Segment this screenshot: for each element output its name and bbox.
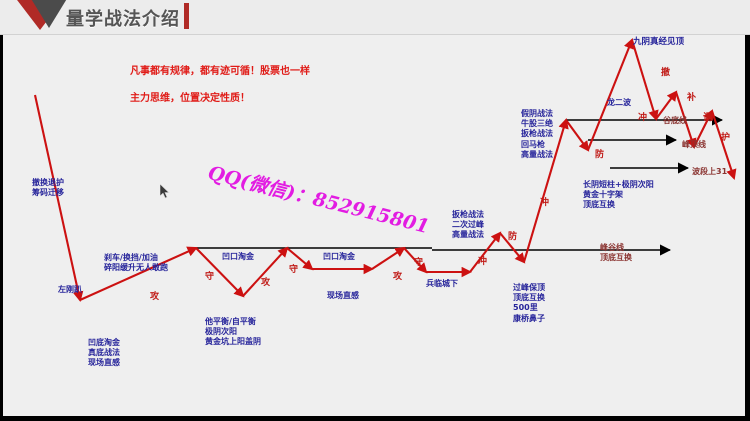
chart-annotation-a32: 护 <box>721 133 730 145</box>
chart-annotation-a27: 九阴真经见顶 <box>633 37 684 48</box>
chart-annotation-a23: 防 <box>595 150 604 162</box>
chart-annotation-a6: 凹口淘金 <box>222 252 254 262</box>
chart-annotation-a34: 波段上31 <box>692 167 727 177</box>
headline-note-2: 主力思维，位置决定性质！ <box>130 93 250 106</box>
seg-down-6 <box>566 120 588 150</box>
chart-annotation-a16: 扳枪战法二次过峰高量战法 <box>452 210 484 241</box>
headline-note-1: 凡事都有规律，都有迹可循！股票也一样 <box>130 66 310 79</box>
chart-annotation-a18: 防 <box>508 232 517 244</box>
chart-annotation-a26: 冲 <box>638 113 647 125</box>
chart-annotation-a22: 冲 <box>540 198 549 210</box>
chart-annotation-a8: 攻 <box>261 278 270 290</box>
chart-annotation-a9: 他平衡/自平衡极阴次阳黄金坑上阳盖阴 <box>205 317 261 348</box>
chart-annotation-a3: 凹底淘金真底战法现场直感 <box>88 338 120 369</box>
edge-bottom <box>0 416 750 421</box>
chart-annotation-a24: 长阴短柱+极阴次阳黄金十字架顶底互换 <box>583 180 654 211</box>
chart-annotation-a2: 左刚趴 <box>58 285 82 295</box>
chart-annotation-a29: 补 <box>687 93 696 105</box>
chart-annotation-a1: 撤换退护筹码迁移 <box>32 178 64 198</box>
logo-gray-triangle <box>30 0 68 28</box>
chart-annotation-a30: 谷底线 <box>663 116 687 126</box>
title-accent-bar <box>184 3 189 29</box>
chart-annotation-a20: 峰谷线顶底互换 <box>600 243 632 263</box>
chart-annotation-a33: 峰顶线 <box>682 140 706 150</box>
edge-right <box>745 0 750 421</box>
chart-annotation-a11: 守 <box>289 265 298 277</box>
seg-up-6 <box>588 40 632 150</box>
slide-root: 量学战法介绍 <box>0 0 750 421</box>
chart-annotation-a25: 龙二波 <box>607 98 631 108</box>
chart-annotation-a13: 攻 <box>393 272 402 284</box>
chart-annotation-a4: 刹车/换挡/加油碎阳缓升无人敢跑 <box>104 253 168 273</box>
chart-annotation-a12: 现场直感 <box>327 291 359 301</box>
edge-left <box>0 0 3 421</box>
chart-annotation-a28: 撤 <box>661 68 670 80</box>
liangxue-logo-icon <box>14 0 70 36</box>
chart-annotation-a10: 凹口淘金 <box>323 252 355 262</box>
seg-down-7 <box>632 40 656 119</box>
chart-annotation-a5: 攻 <box>150 292 159 304</box>
seg-up-7 <box>656 92 676 119</box>
chart-annotation-a14: 守 <box>414 258 423 270</box>
mouse-cursor-icon <box>160 184 171 199</box>
seg-up-3 <box>372 248 404 269</box>
chart-annotation-a21: 假阴战法牛股三绝扳枪战法回马枪高量战法 <box>521 109 553 160</box>
chart-annotation-a15: 兵临城下 <box>426 279 458 289</box>
chart-annotation-a7: 守 <box>205 272 214 284</box>
page-title: 量学战法介绍 <box>66 5 180 31</box>
chart-annotation-a19: 过峰保顶顶底互换500里康桥鼻子 <box>513 283 545 324</box>
slide-header: 量学战法介绍 <box>0 0 750 35</box>
chart-annotation-a17: 冲 <box>478 257 487 269</box>
chart-annotation-a31: 调 <box>703 113 712 125</box>
